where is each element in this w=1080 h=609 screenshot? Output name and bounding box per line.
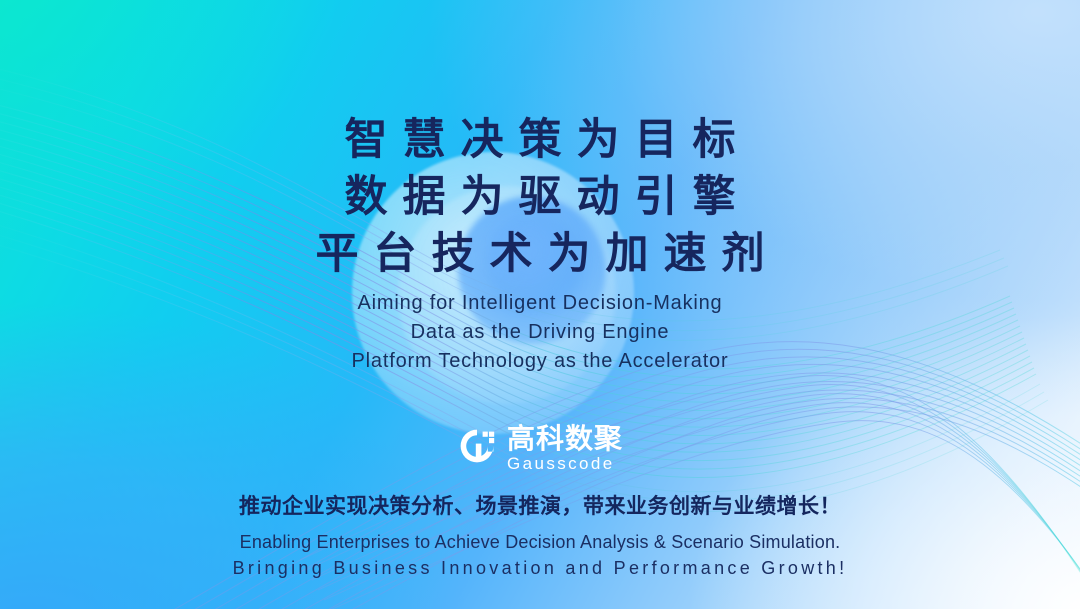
gausscode-logo-mark-icon xyxy=(457,426,497,466)
logo-name-cn: 高科数聚 xyxy=(507,424,623,454)
banner-content: 智慧决策为目标 数据为驱动引擎 平台技术为加速剂 Aiming for Inte… xyxy=(0,0,1080,609)
subheadline-line-2: Data as the Driving Engine xyxy=(352,318,729,347)
headline-line-2: 数据为驱动引擎 xyxy=(301,169,780,226)
logo-name-en: Gausscode xyxy=(507,454,615,474)
tagline-english-line-2: Bringing Business Innovation and Perform… xyxy=(233,555,848,581)
tagline-chinese: 推动企业实现决策分析、场景推演，带来业务创新与业绩增长！ xyxy=(239,490,841,520)
subheadline-line-3: Platform Technology as the Accelerator xyxy=(352,347,729,376)
headline-block: 智慧决策为目标 数据为驱动引擎 平台技术为加速剂 xyxy=(301,112,780,283)
headline-line-3: 平台技术为加速剂 xyxy=(301,226,780,283)
subheadline-block: Aiming for Intelligent Decision-Making D… xyxy=(352,289,729,376)
tagline-english-block: Enabling Enterprises to Achieve Decision… xyxy=(233,529,848,581)
promo-banner: 智慧决策为目标 数据为驱动引擎 平台技术为加速剂 Aiming for Inte… xyxy=(0,0,1080,609)
logo-lockup: 高科数聚 Gausscode xyxy=(457,424,623,474)
logo-wordmark: 高科数聚 Gausscode xyxy=(507,424,623,474)
subheadline-line-1: Aiming for Intelligent Decision-Making xyxy=(352,289,729,318)
tagline-english-line-1: Enabling Enterprises to Achieve Decision… xyxy=(233,529,848,555)
headline-line-1: 智慧决策为目标 xyxy=(301,112,780,169)
